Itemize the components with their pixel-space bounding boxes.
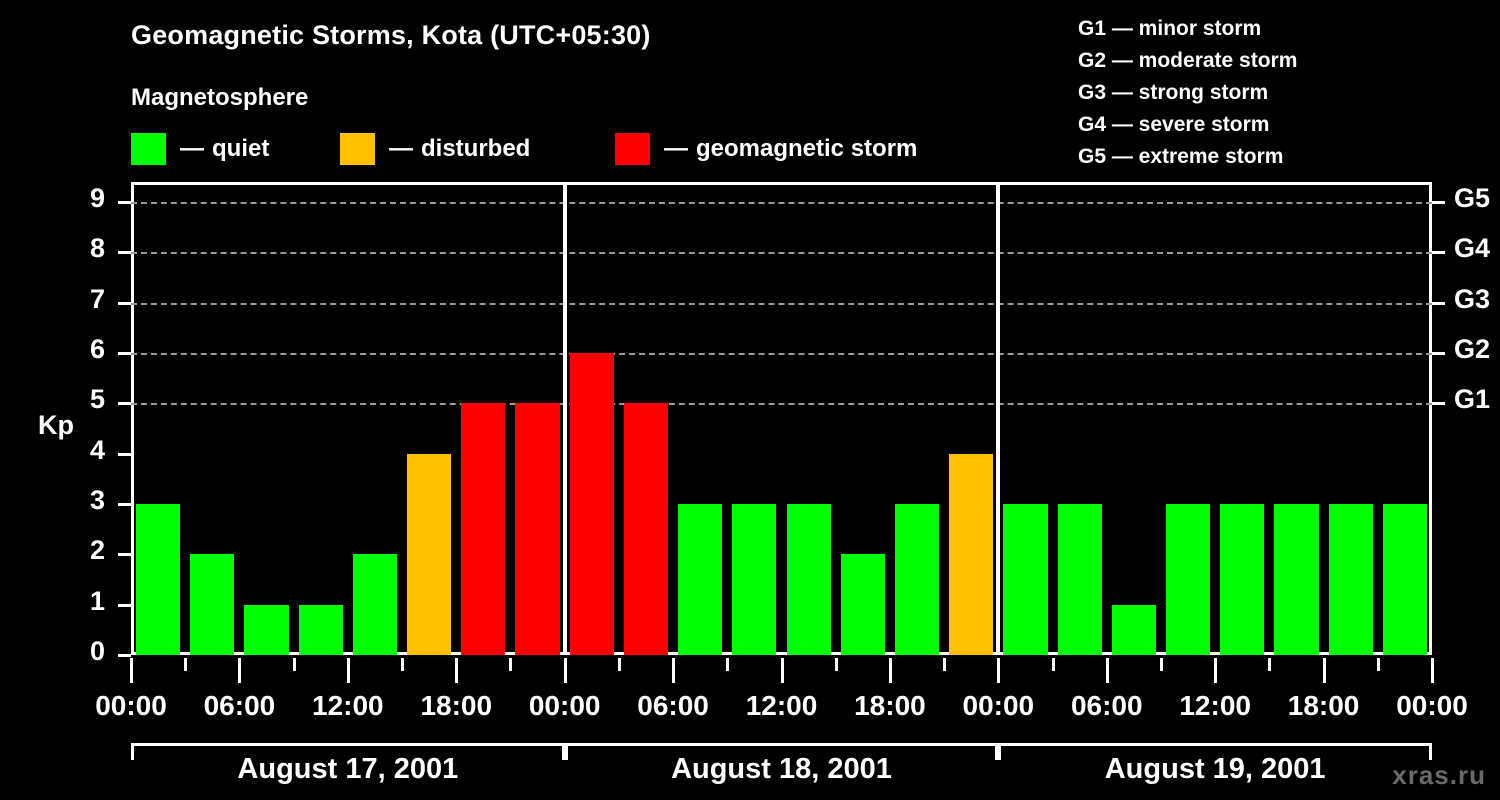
x-tick-major bbox=[889, 658, 892, 683]
kp-bar bbox=[895, 504, 939, 655]
g-tick-g2 bbox=[1432, 352, 1445, 355]
x-tick-minor bbox=[1377, 658, 1380, 671]
x-axis-label: 06:00 bbox=[204, 690, 276, 722]
kp-bar bbox=[353, 554, 397, 655]
g-axis-label: G3 bbox=[1454, 284, 1490, 315]
y-axis-label: 1 bbox=[75, 586, 105, 617]
kp-bar bbox=[407, 454, 451, 655]
g-tick-g1 bbox=[1432, 402, 1445, 405]
x-tick-minor bbox=[293, 658, 296, 671]
kp-bar bbox=[1112, 605, 1156, 655]
kp-bar bbox=[624, 403, 668, 655]
x-axis-label: 18:00 bbox=[1288, 690, 1360, 722]
g-tick-g4 bbox=[1432, 251, 1445, 254]
kp-bar bbox=[299, 605, 343, 655]
x-tick-minor bbox=[1160, 658, 1163, 671]
plot-area bbox=[131, 182, 1432, 655]
kp-bar bbox=[1166, 504, 1210, 655]
kp-bar bbox=[732, 504, 776, 655]
date-label: August 18, 2001 bbox=[565, 753, 999, 786]
kp-bar bbox=[841, 554, 885, 655]
y-axis-label: 6 bbox=[75, 334, 105, 365]
x-tick-major bbox=[1431, 658, 1434, 683]
g-axis-label: G4 bbox=[1454, 233, 1490, 264]
g-axis-label: G1 bbox=[1454, 384, 1490, 415]
magnetosphere-label: Magnetosphere bbox=[131, 84, 308, 112]
kp-bar bbox=[570, 353, 614, 655]
y-axis-label: 4 bbox=[75, 435, 105, 466]
g-axis-label: G5 bbox=[1454, 183, 1490, 214]
x-axis-label: 18:00 bbox=[420, 690, 492, 722]
x-tick-major bbox=[781, 658, 784, 683]
kp-bar bbox=[1220, 504, 1264, 655]
x-tick-major bbox=[130, 658, 133, 683]
x-tick-major bbox=[672, 658, 675, 683]
kp-bar bbox=[136, 504, 180, 655]
gscale-row-g1: G1 — minor storm bbox=[1078, 13, 1297, 45]
kp-bar bbox=[244, 605, 288, 655]
y-tick-2 bbox=[118, 553, 131, 556]
g-scale-legend: G1 — minor stormG2 — moderate stormG3 — … bbox=[1078, 13, 1297, 173]
gridline-kp-8 bbox=[131, 252, 1432, 254]
kp-bar bbox=[1058, 504, 1102, 655]
quiet-legend: —quiet bbox=[131, 133, 269, 165]
x-tick-major bbox=[347, 658, 350, 683]
y-tick-6 bbox=[118, 352, 131, 355]
gridline-kp-7 bbox=[131, 303, 1432, 305]
y-axis-label: 2 bbox=[75, 535, 105, 566]
x-axis-label: 00:00 bbox=[963, 690, 1035, 722]
x-tick-major bbox=[238, 658, 241, 683]
disturbed-legend-swatch-icon bbox=[340, 133, 375, 165]
x-tick-major bbox=[455, 658, 458, 683]
x-tick-minor bbox=[1052, 658, 1055, 671]
y-tick-9 bbox=[118, 201, 131, 204]
y-axis-label: 7 bbox=[75, 284, 105, 315]
kp-bar bbox=[515, 403, 559, 655]
page-title: Geomagnetic Storms, Kota (UTC+05:30) bbox=[131, 20, 651, 51]
y-axis-label: 5 bbox=[75, 384, 105, 415]
gscale-row-g5: G5 — extreme storm bbox=[1078, 141, 1297, 173]
x-tick-minor bbox=[509, 658, 512, 671]
watermark: xras.ru bbox=[1392, 760, 1486, 791]
kp-bar bbox=[1383, 504, 1427, 655]
x-axis-label: 12:00 bbox=[312, 690, 384, 722]
gscale-row-g2: G2 — moderate storm bbox=[1078, 45, 1297, 77]
gridline-kp-9 bbox=[131, 202, 1432, 204]
g-axis-label: G2 bbox=[1454, 334, 1490, 365]
gridline-kp-5 bbox=[131, 403, 1432, 405]
legend-dash: — bbox=[180, 137, 204, 161]
x-axis-label: 06:00 bbox=[1071, 690, 1143, 722]
y-tick-8 bbox=[118, 251, 131, 254]
date-label: August 19, 2001 bbox=[998, 753, 1432, 786]
x-axis-label: 12:00 bbox=[746, 690, 818, 722]
kp-bar bbox=[1274, 504, 1318, 655]
y-tick-3 bbox=[118, 503, 131, 506]
y-axis-label: 8 bbox=[75, 233, 105, 264]
x-tick-major bbox=[1214, 658, 1217, 683]
x-axis-label: 00:00 bbox=[1396, 690, 1468, 722]
kp-bar bbox=[949, 454, 993, 655]
x-tick-minor bbox=[726, 658, 729, 671]
g-tick-g3 bbox=[1432, 302, 1445, 305]
kp-bar bbox=[190, 554, 234, 655]
y-axis-label: 0 bbox=[75, 636, 105, 667]
kp-bar bbox=[1003, 504, 1047, 655]
y-axis-title: Kp bbox=[38, 410, 74, 441]
x-tick-major bbox=[997, 658, 1000, 683]
x-tick-major bbox=[1106, 658, 1109, 683]
disturbed-legend: —disturbed bbox=[340, 133, 530, 165]
kp-bar bbox=[678, 504, 722, 655]
x-axis-label: 00:00 bbox=[95, 690, 167, 722]
disturbed-legend-text: disturbed bbox=[421, 137, 530, 161]
x-tick-minor bbox=[943, 658, 946, 671]
y-tick-5 bbox=[118, 402, 131, 405]
x-axis-label: 00:00 bbox=[529, 690, 601, 722]
kp-bar bbox=[787, 504, 831, 655]
date-label: August 17, 2001 bbox=[131, 753, 565, 786]
y-axis-label: 3 bbox=[75, 485, 105, 516]
kp-bar bbox=[1329, 504, 1373, 655]
gridline-kp-6 bbox=[131, 353, 1432, 355]
x-tick-major bbox=[1323, 658, 1326, 683]
quiet-legend-text: quiet bbox=[212, 137, 269, 161]
gscale-row-g4: G4 — severe storm bbox=[1078, 109, 1297, 141]
y-tick-7 bbox=[118, 302, 131, 305]
legend-dash: — bbox=[389, 137, 413, 161]
geomagnetic-storm-legend: —geomagnetic storm bbox=[615, 133, 917, 165]
x-axis-label: 18:00 bbox=[854, 690, 926, 722]
x-tick-minor bbox=[401, 658, 404, 671]
x-axis-label: 12:00 bbox=[1179, 690, 1251, 722]
geomagnetic-storm-legend-text: geomagnetic storm bbox=[696, 137, 917, 161]
day-separator bbox=[563, 182, 567, 655]
y-tick-1 bbox=[118, 604, 131, 607]
g-tick-g5 bbox=[1432, 201, 1445, 204]
x-tick-minor bbox=[184, 658, 187, 671]
day-separator bbox=[996, 182, 1000, 655]
y-tick-0 bbox=[118, 654, 131, 657]
legend-dash: — bbox=[664, 137, 688, 161]
quiet-legend-swatch-icon bbox=[131, 133, 166, 165]
x-tick-minor bbox=[618, 658, 621, 671]
y-tick-4 bbox=[118, 453, 131, 456]
chart-root: Geomagnetic Storms, Kota (UTC+05:30) Mag… bbox=[0, 0, 1500, 800]
kp-bar bbox=[461, 403, 505, 655]
x-tick-minor bbox=[1268, 658, 1271, 671]
x-tick-major bbox=[564, 658, 567, 683]
geomagnetic-storm-legend-swatch-icon bbox=[615, 133, 650, 165]
y-axis-label: 9 bbox=[75, 183, 105, 214]
x-tick-minor bbox=[835, 658, 838, 671]
x-axis-label: 06:00 bbox=[637, 690, 709, 722]
gscale-row-g3: G3 — strong storm bbox=[1078, 77, 1297, 109]
